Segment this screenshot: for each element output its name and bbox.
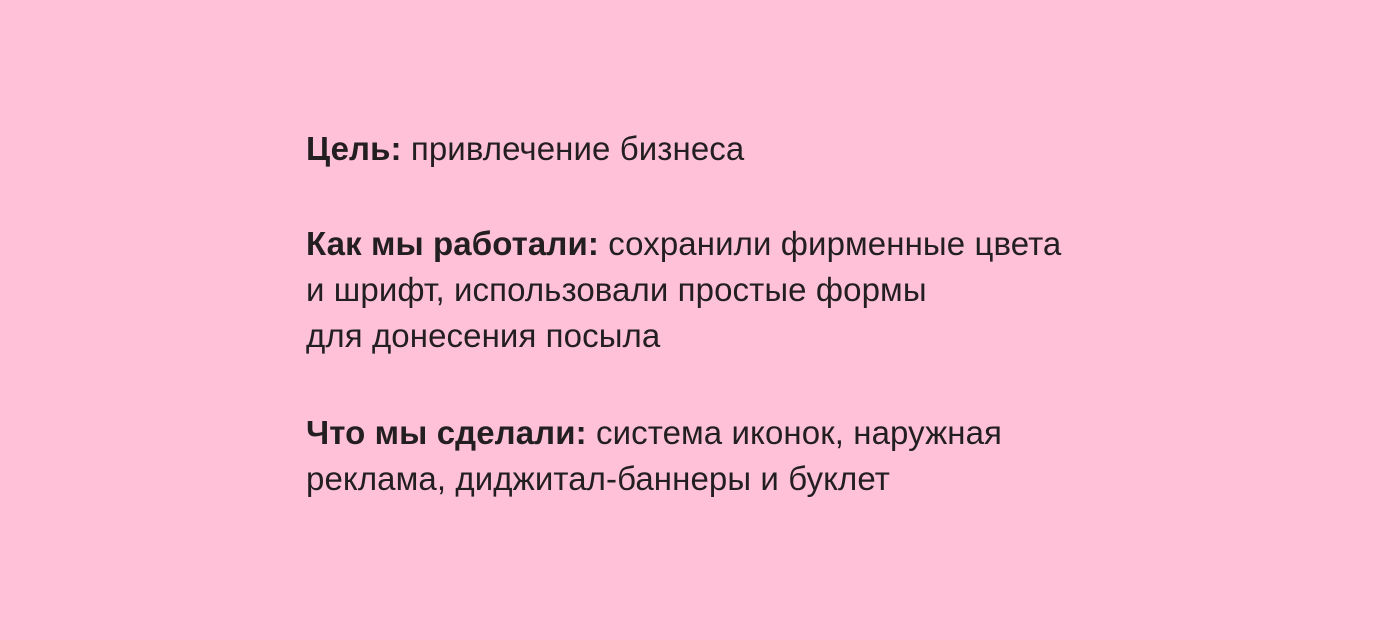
paragraph-what-we-did: Что мы сделали: система иконок, наружная… bbox=[306, 410, 1206, 502]
paragraph-what-we-did-lead: Что мы сделали: bbox=[306, 414, 587, 451]
paragraph-how-we-worked-lead: Как мы работали: bbox=[306, 225, 599, 262]
paragraph-goal: Цель: привлечение бизнеса bbox=[306, 126, 1206, 172]
paragraph-how-we-worked: Как мы работали: сохранили фирменные цве… bbox=[306, 221, 1206, 359]
slide-canvas: Цель: привлечение бизнеса Как мы работал… bbox=[0, 0, 1400, 640]
text-content-block: Цель: привлечение бизнеса Как мы работал… bbox=[306, 126, 1206, 502]
paragraph-goal-body: привлечение бизнеса bbox=[402, 130, 745, 167]
paragraph-goal-lead: Цель: bbox=[306, 130, 402, 167]
